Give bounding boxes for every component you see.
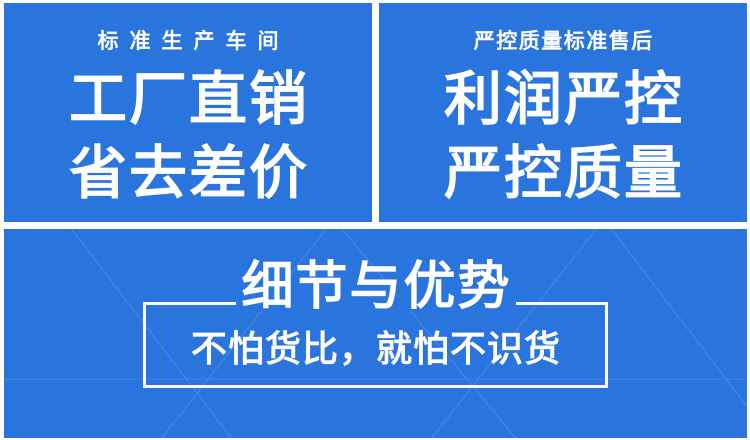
panel-quality-control-headline-line2: 严控质量 <box>442 144 684 202</box>
panel-quality-control-content: 严控质量标准售后 利润严控 严控质量 <box>379 3 747 222</box>
panel-factory-direct: 标准生产车间 工厂直销 省去差价 <box>4 3 372 222</box>
panel-factory-direct-headline-line1: 工厂直销 <box>67 70 309 128</box>
panel-factory-direct-headline-line2: 省去差价 <box>67 144 309 202</box>
promo-banner: 标准生产车间 工厂直销 省去差价 严控质量标准售后 利润严控 严控质量 <box>0 0 750 440</box>
panel-quality-control-headline-line1: 利润严控 <box>442 70 684 128</box>
panel-factory-direct-content: 标准生产车间 工厂直销 省去差价 <box>4 3 372 222</box>
panel-quality-control-eyebrow: 严控质量标准售后 <box>472 31 654 52</box>
panel-factory-direct-eyebrow: 标准生产车间 <box>87 31 290 52</box>
details-subtitle: 不怕货比，就怕不识货 <box>4 332 747 368</box>
details-title: 细节与优势 <box>4 261 747 313</box>
panel-details-advantages: 细节与优势 不怕货比，就怕不识货 <box>4 229 747 438</box>
panel-quality-control: 严控质量标准售后 利润严控 严控质量 <box>379 3 747 222</box>
